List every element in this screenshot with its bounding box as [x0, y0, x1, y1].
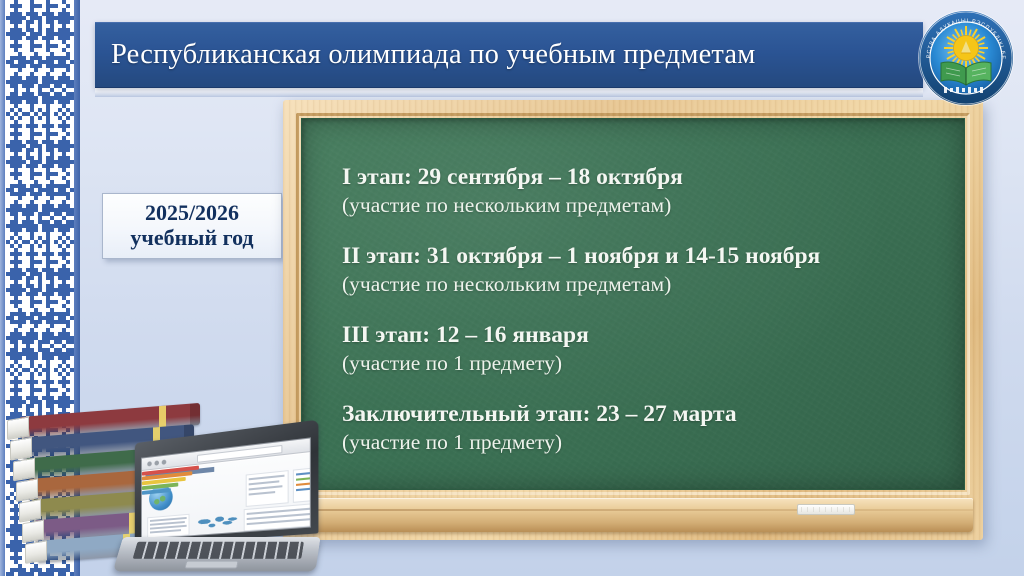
stage-block: III этап: 12 – 16 января(участие по 1 пр… [342, 321, 964, 377]
blackboard: I этап: 29 сентября – 18 октября(участие… [283, 100, 983, 540]
book-spine [190, 403, 200, 426]
page-title: Республиканская олимпиада по учебным пре… [95, 39, 756, 71]
browser-dot [154, 460, 159, 465]
laptop-base [113, 537, 321, 571]
browser-dot [147, 461, 151, 466]
browser-dot [162, 460, 167, 465]
ornament-edge-left [0, 0, 5, 576]
stage-title: I этап: 29 сентября – 18 октября [342, 163, 964, 191]
book-band [159, 406, 166, 429]
page-title-banner: Республиканская олимпиада по учебным пре… [95, 22, 923, 88]
laptop [118, 432, 318, 572]
stage-block: I этап: 29 сентября – 18 октября(участие… [342, 163, 964, 219]
academic-year-badge: 2025/2026 учебный год [102, 193, 282, 259]
ornament-motif-tile [6, 0, 74, 128]
stage-title: II этап: 31 октября – 1 ноября и 14-15 н… [342, 242, 964, 270]
ornament-motif-tile [6, 128, 74, 256]
academic-year-label: учебный год [130, 226, 253, 251]
laptop-keyboard [133, 542, 304, 559]
laptop-lid [135, 420, 319, 546]
stage-subtitle: (участие по нескольким предметам) [342, 192, 964, 219]
ornament-motif-tile [6, 256, 74, 384]
chalk-piece [797, 504, 855, 515]
stage-subtitle: (участие по нескольким предметам) [342, 271, 964, 298]
stage-block: Заключительный этап: 23 – 27 марта(участ… [342, 400, 964, 456]
academic-year-value: 2025/2026 [145, 201, 239, 226]
book-pages [25, 540, 47, 564]
ministry-emblem: МІНІСТЭРСТВА АДУКАЦЫІ РЭСПУБЛІКІ БЕЛАРУС… [916, 8, 1016, 108]
stage-title: Заключительный этап: 23 – 27 марта [342, 400, 964, 428]
blackboard-surface: I этап: 29 сентября – 18 октября(участие… [301, 118, 965, 490]
laptop-screen [141, 437, 311, 540]
stage-title: III этап: 12 – 16 января [342, 321, 964, 349]
chalk-tray [293, 498, 973, 532]
laptop-trackpad [184, 561, 238, 569]
stage-subtitle: (участие по 1 предмету) [342, 429, 964, 456]
stage-block: II этап: 31 октября – 1 ноября и 14-15 н… [342, 242, 964, 298]
banner-shelf-divider [95, 88, 923, 97]
stage-subtitle: (участие по 1 предмету) [342, 350, 964, 377]
world-map-chart [195, 510, 238, 535]
